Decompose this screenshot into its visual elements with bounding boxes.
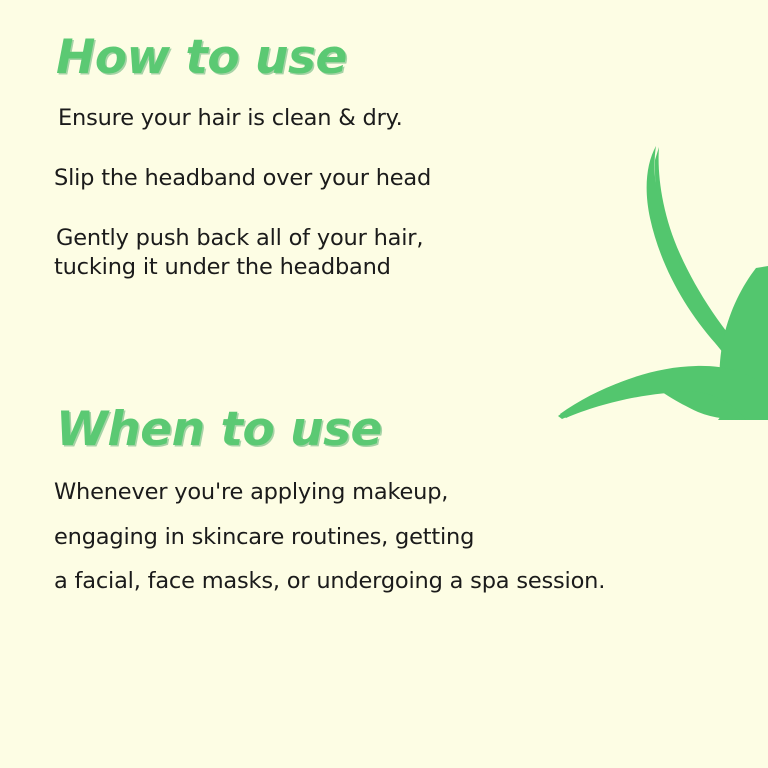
when-to-use-description: Whenever you're applying makeup, engagin…: [0, 481, 768, 593]
when-line-3: a facial, face masks, or undergoing a sp…: [54, 570, 768, 593]
leaf-blade-2: [718, 266, 768, 420]
how-step-line-4: tucking it under the headband: [54, 256, 768, 279]
how-step-line-3: Gently push back all of your hair,: [54, 227, 768, 250]
section-how-to-use: How to use Ensure your hair is clean & d…: [0, 30, 768, 278]
when-line-2: engaging in skincare routines, getting: [54, 526, 768, 549]
when-line-1: Whenever you're applying makeup,: [54, 481, 768, 504]
leaf-blade-upper-right: [730, 270, 768, 420]
poster-canvas: How to use Ensure your hair is clean & d…: [0, 0, 768, 768]
how-step-line-1: Ensure your hair is clean & dry.: [54, 107, 768, 130]
how-step-line-2: Slip the headband over your head: [54, 167, 768, 190]
heading-when-to-use: When to use: [0, 402, 768, 457]
heading-how-to-use: How to use: [0, 30, 768, 85]
section-when-to-use: When to use Whenever you're applying mak…: [0, 402, 768, 593]
how-to-use-steps: Ensure your hair is clean & dry. Slip th…: [0, 107, 768, 278]
